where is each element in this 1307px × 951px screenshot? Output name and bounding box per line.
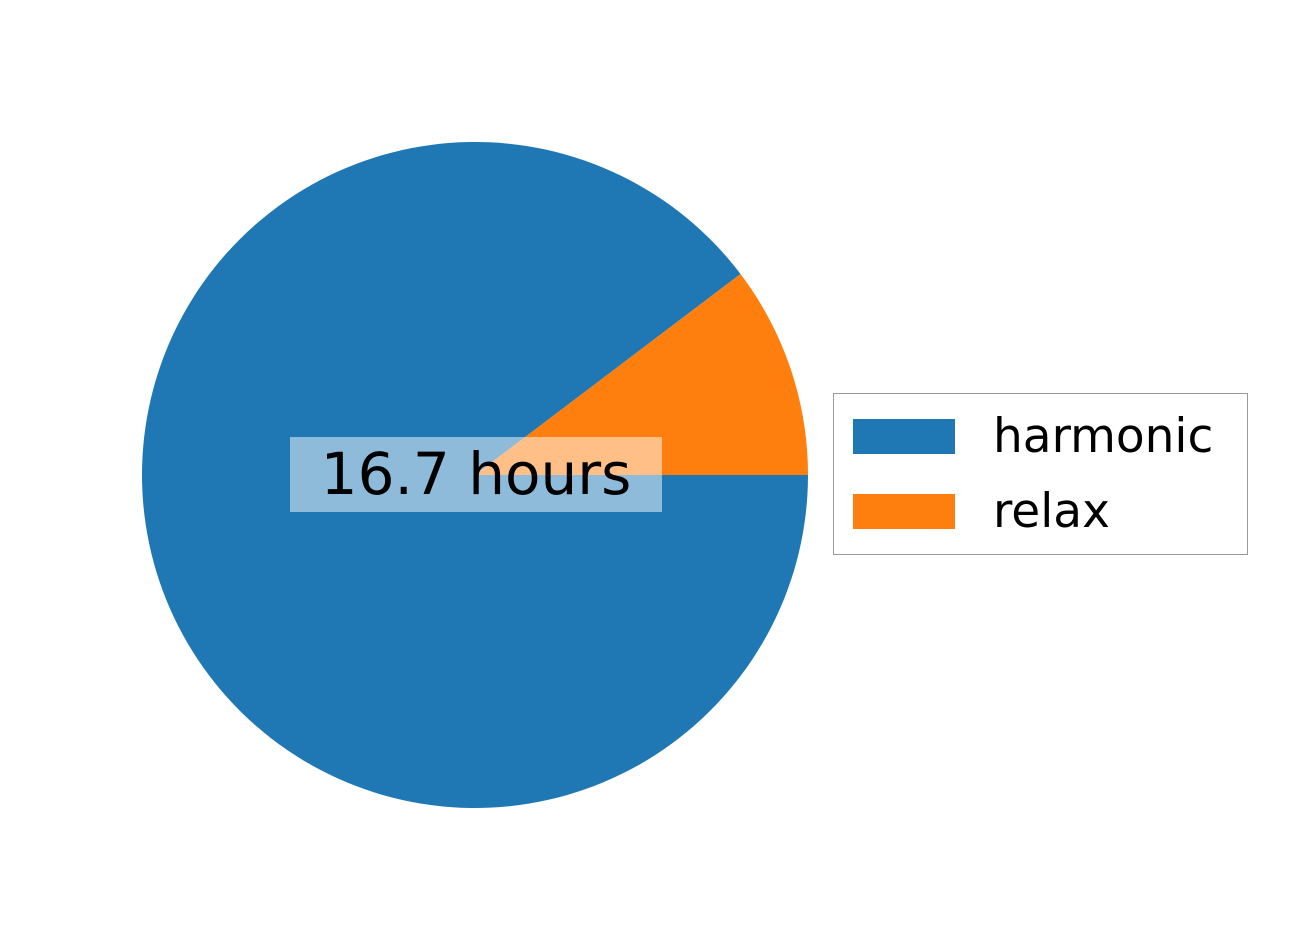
center-value-label: 16.7 hours [290, 437, 662, 512]
legend-label-harmonic: harmonic [993, 402, 1213, 472]
legend-entry-harmonic[interactable]: harmonic [834, 411, 1247, 486]
legend-swatch-relax [853, 494, 955, 529]
figure-canvas: 16.7 hours harmonic relax [0, 0, 1307, 951]
legend-label-relax: relax [993, 477, 1110, 547]
legend-entry-relax[interactable]: relax [834, 486, 1247, 561]
legend-swatch-harmonic [853, 419, 955, 454]
legend: harmonic relax [833, 393, 1248, 555]
